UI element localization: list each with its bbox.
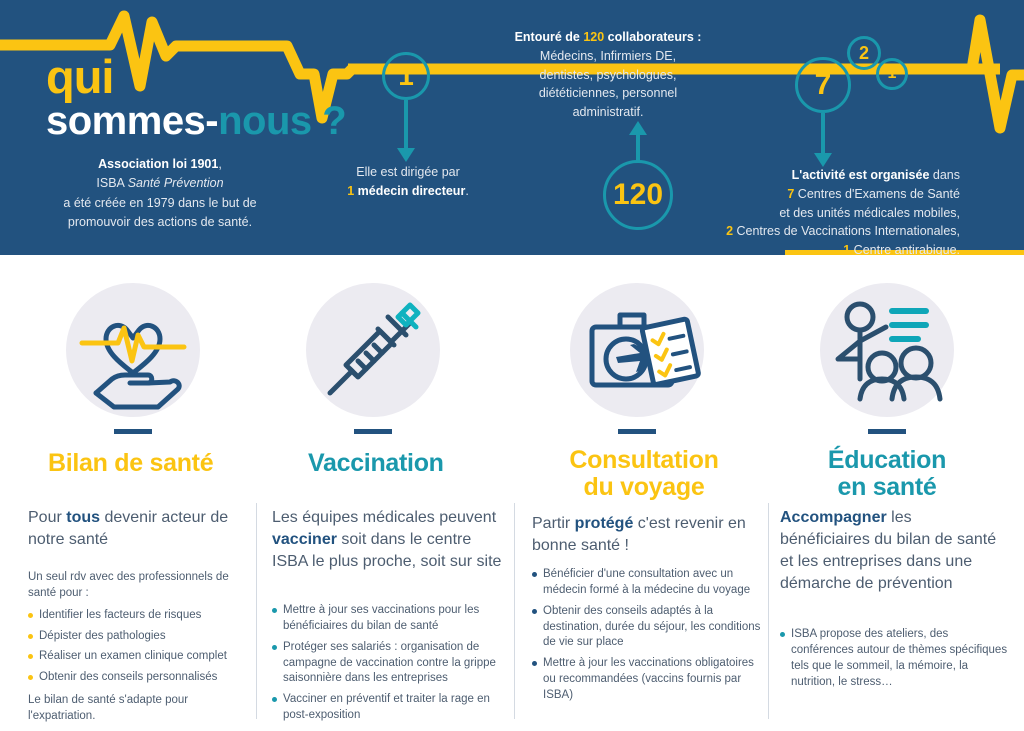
- list-item: Mettre à jour les vaccinations obligatoi…: [532, 656, 766, 704]
- note-collab-line5: administratif.: [573, 105, 644, 119]
- note-centres-l3: et des unités médicales mobiles,: [779, 206, 960, 220]
- note-director-bold: médecin directeur: [354, 184, 465, 198]
- note-director-line1: Elle est dirigée par: [356, 165, 460, 179]
- list-item: Bénéficier d'une consultation avec un mé…: [532, 567, 766, 599]
- stat-note-collaborators: Entouré de 120 collaborateurs : Médecins…: [498, 28, 718, 122]
- service-lede-voyage: Partir protégé c'est revenir en bonne sa…: [532, 513, 762, 557]
- note-collab-bold-a: Entouré de: [515, 30, 584, 44]
- stat-circle-collaborators: 120: [603, 160, 673, 230]
- assoc-bold: Association loi 1901: [98, 157, 218, 171]
- stat-stem-centres: [821, 113, 825, 155]
- lede-pre: Partir: [532, 515, 575, 532]
- note-collab-line3: dentistes, psychologues,: [540, 68, 677, 82]
- assoc-comma: ,: [218, 157, 221, 171]
- stat-note-centres: L'activité est organisée dans 7 Centres …: [700, 166, 960, 260]
- service-lede-vaccination: Les équipes médicales peuvent vacciner s…: [272, 507, 504, 573]
- note-centres-l2: Centres d'Examens de Santé: [794, 187, 960, 201]
- service-card-bilan: Bilan de santé Pour tous devenir acteur …: [14, 255, 258, 727]
- service-caption-education: Éducation en santé: [792, 447, 982, 501]
- service-details-education: ISBA propose des ateliers, des conférenc…: [780, 627, 1008, 695]
- service-lede-education: Accompagner les bénéficiaires du bilan d…: [780, 507, 1002, 595]
- icon-underline: [618, 429, 656, 434]
- title-nous: nous ?: [218, 99, 346, 143]
- details-outro: Le bilan de santé s'adapte pour l'expatr…: [28, 692, 248, 725]
- details-bullet-list: ISBA propose des ateliers, des conférenc…: [780, 627, 1008, 690]
- details-bullet-list: Identifier les facteurs de risques Dépis…: [28, 608, 248, 686]
- caption-line-1: Vaccination: [308, 449, 444, 477]
- service-details-vaccination: Mettre à jour ses vaccinations pour les …: [272, 603, 508, 729]
- caption-line-2: en santé: [792, 474, 982, 501]
- lede-pre: Les équipes médicales peuvent: [272, 509, 496, 526]
- details-bullet-list: Bénéficier d'une consultation avec un mé…: [532, 567, 766, 704]
- title-line-2: sommes-nous ?: [46, 100, 346, 142]
- note-collab-line4: diététiciennes, personnel: [539, 86, 677, 100]
- caption-line-1: Bilan de santé: [48, 449, 213, 477]
- travel-suitcase-icon: [570, 283, 704, 417]
- note-collab-bold-b: collaborateurs :: [604, 30, 701, 44]
- service-card-voyage: CONSULTATIONS POSSIBLES ÀGRENOBLE ET LYO…: [518, 255, 770, 727]
- caption-line-2: du voyage: [566, 474, 722, 501]
- stat-circle-director: 1: [382, 52, 430, 100]
- stat-arrow-centres: [814, 153, 832, 167]
- list-item: ISBA propose des ateliers, des conférenc…: [780, 627, 1008, 690]
- note-centres-after: dans: [929, 168, 960, 182]
- service-details-bilan: Un seul rdv avec des professionnels de s…: [28, 569, 248, 731]
- lede-pre: Pour: [28, 509, 66, 526]
- heart-in-hand-icon: [66, 283, 200, 417]
- assoc-isba: ISBA: [96, 176, 127, 190]
- lede-bold: protégé: [575, 515, 634, 532]
- stat-arrow-director: [397, 148, 415, 162]
- list-item: Obtenir des conseils personnalisés: [28, 670, 248, 686]
- title-sommes: sommes-: [46, 99, 218, 143]
- list-item: Protéger ses salariés : organisation de …: [272, 640, 508, 688]
- note-centres-l4: Centres de Vaccinations Internationales,: [733, 224, 960, 238]
- page-title: qui sommes-nous ?: [46, 55, 346, 142]
- assoc-line4: promouvoir des actions de santé.: [68, 215, 252, 229]
- lede-bold: vacciner: [272, 531, 337, 548]
- list-item: Obtenir des conseils adaptés à la destin…: [532, 604, 766, 652]
- stat-stem-collaborators: [636, 133, 640, 163]
- list-item: Mettre à jour ses vaccinations pour les …: [272, 603, 508, 635]
- icon-underline: [354, 429, 392, 434]
- service-card-vaccination: Vaccination Les équipes médicales peuven…: [262, 255, 514, 727]
- note-centres-bold: L'activité est organisée: [792, 168, 930, 182]
- title-line-1: qui: [46, 55, 346, 100]
- caption-line-1: Éducation: [792, 447, 982, 474]
- stat-circle-centres-7: 7: [795, 57, 851, 113]
- service-lede-bilan: Pour tous devenir acteur de notre santé: [28, 507, 256, 551]
- column-divider: [514, 503, 515, 719]
- note-collab-number: 120: [583, 30, 604, 44]
- note-director-end: .: [465, 184, 468, 198]
- details-bullet-list: Mettre à jour ses vaccinations pour les …: [272, 603, 508, 724]
- service-details-voyage: Bénéficier d'une consultation avec un mé…: [532, 567, 766, 709]
- icon-underline: [114, 429, 152, 434]
- stat-circle-centres-2: 2: [847, 36, 881, 70]
- header-banner: qui sommes-nous ? Association loi 1901, …: [0, 0, 1024, 255]
- stat-stem-director: [404, 100, 408, 150]
- association-description: Association loi 1901, ISBA Santé Prévent…: [30, 155, 290, 233]
- service-caption-bilan: Bilan de santé: [48, 450, 213, 477]
- list-item: Vacciner en préventif et traiter la rage…: [272, 692, 508, 724]
- list-item: Identifier les facteurs de risques: [28, 608, 248, 624]
- services-section: Bilan de santé Pour tous devenir acteur …: [0, 255, 1024, 727]
- syringe-icon: [306, 283, 440, 417]
- assoc-line3: a été créée en 1979 dans le but de: [63, 196, 256, 210]
- list-item: Réaliser un examen clinique complet: [28, 649, 248, 665]
- lede-bold: Accompagner: [780, 509, 887, 526]
- stat-note-director: Elle est dirigée par 1 médecin directeur…: [328, 163, 488, 201]
- service-caption-voyage: Consultation du voyage: [566, 447, 722, 501]
- caption-line-1: Consultation: [566, 447, 722, 474]
- service-caption-vaccination: Vaccination: [308, 450, 444, 477]
- details-intro: Un seul rdv avec des professionnels de s…: [28, 569, 248, 602]
- assoc-sante-prevention: Santé Prévention: [128, 176, 224, 190]
- stat-circle-centres-1: 1: [876, 58, 908, 90]
- education-people-icon: [820, 283, 954, 417]
- service-card-education: Éducation en santé Accompagner les bénéf…: [772, 255, 1010, 727]
- note-centres-n2: 2: [726, 224, 733, 238]
- list-item: Dépister des pathologies: [28, 629, 248, 645]
- icon-underline: [868, 429, 906, 434]
- note-collab-line2: Médecins, Infirmiers DE,: [540, 49, 676, 63]
- lede-bold: tous: [66, 509, 100, 526]
